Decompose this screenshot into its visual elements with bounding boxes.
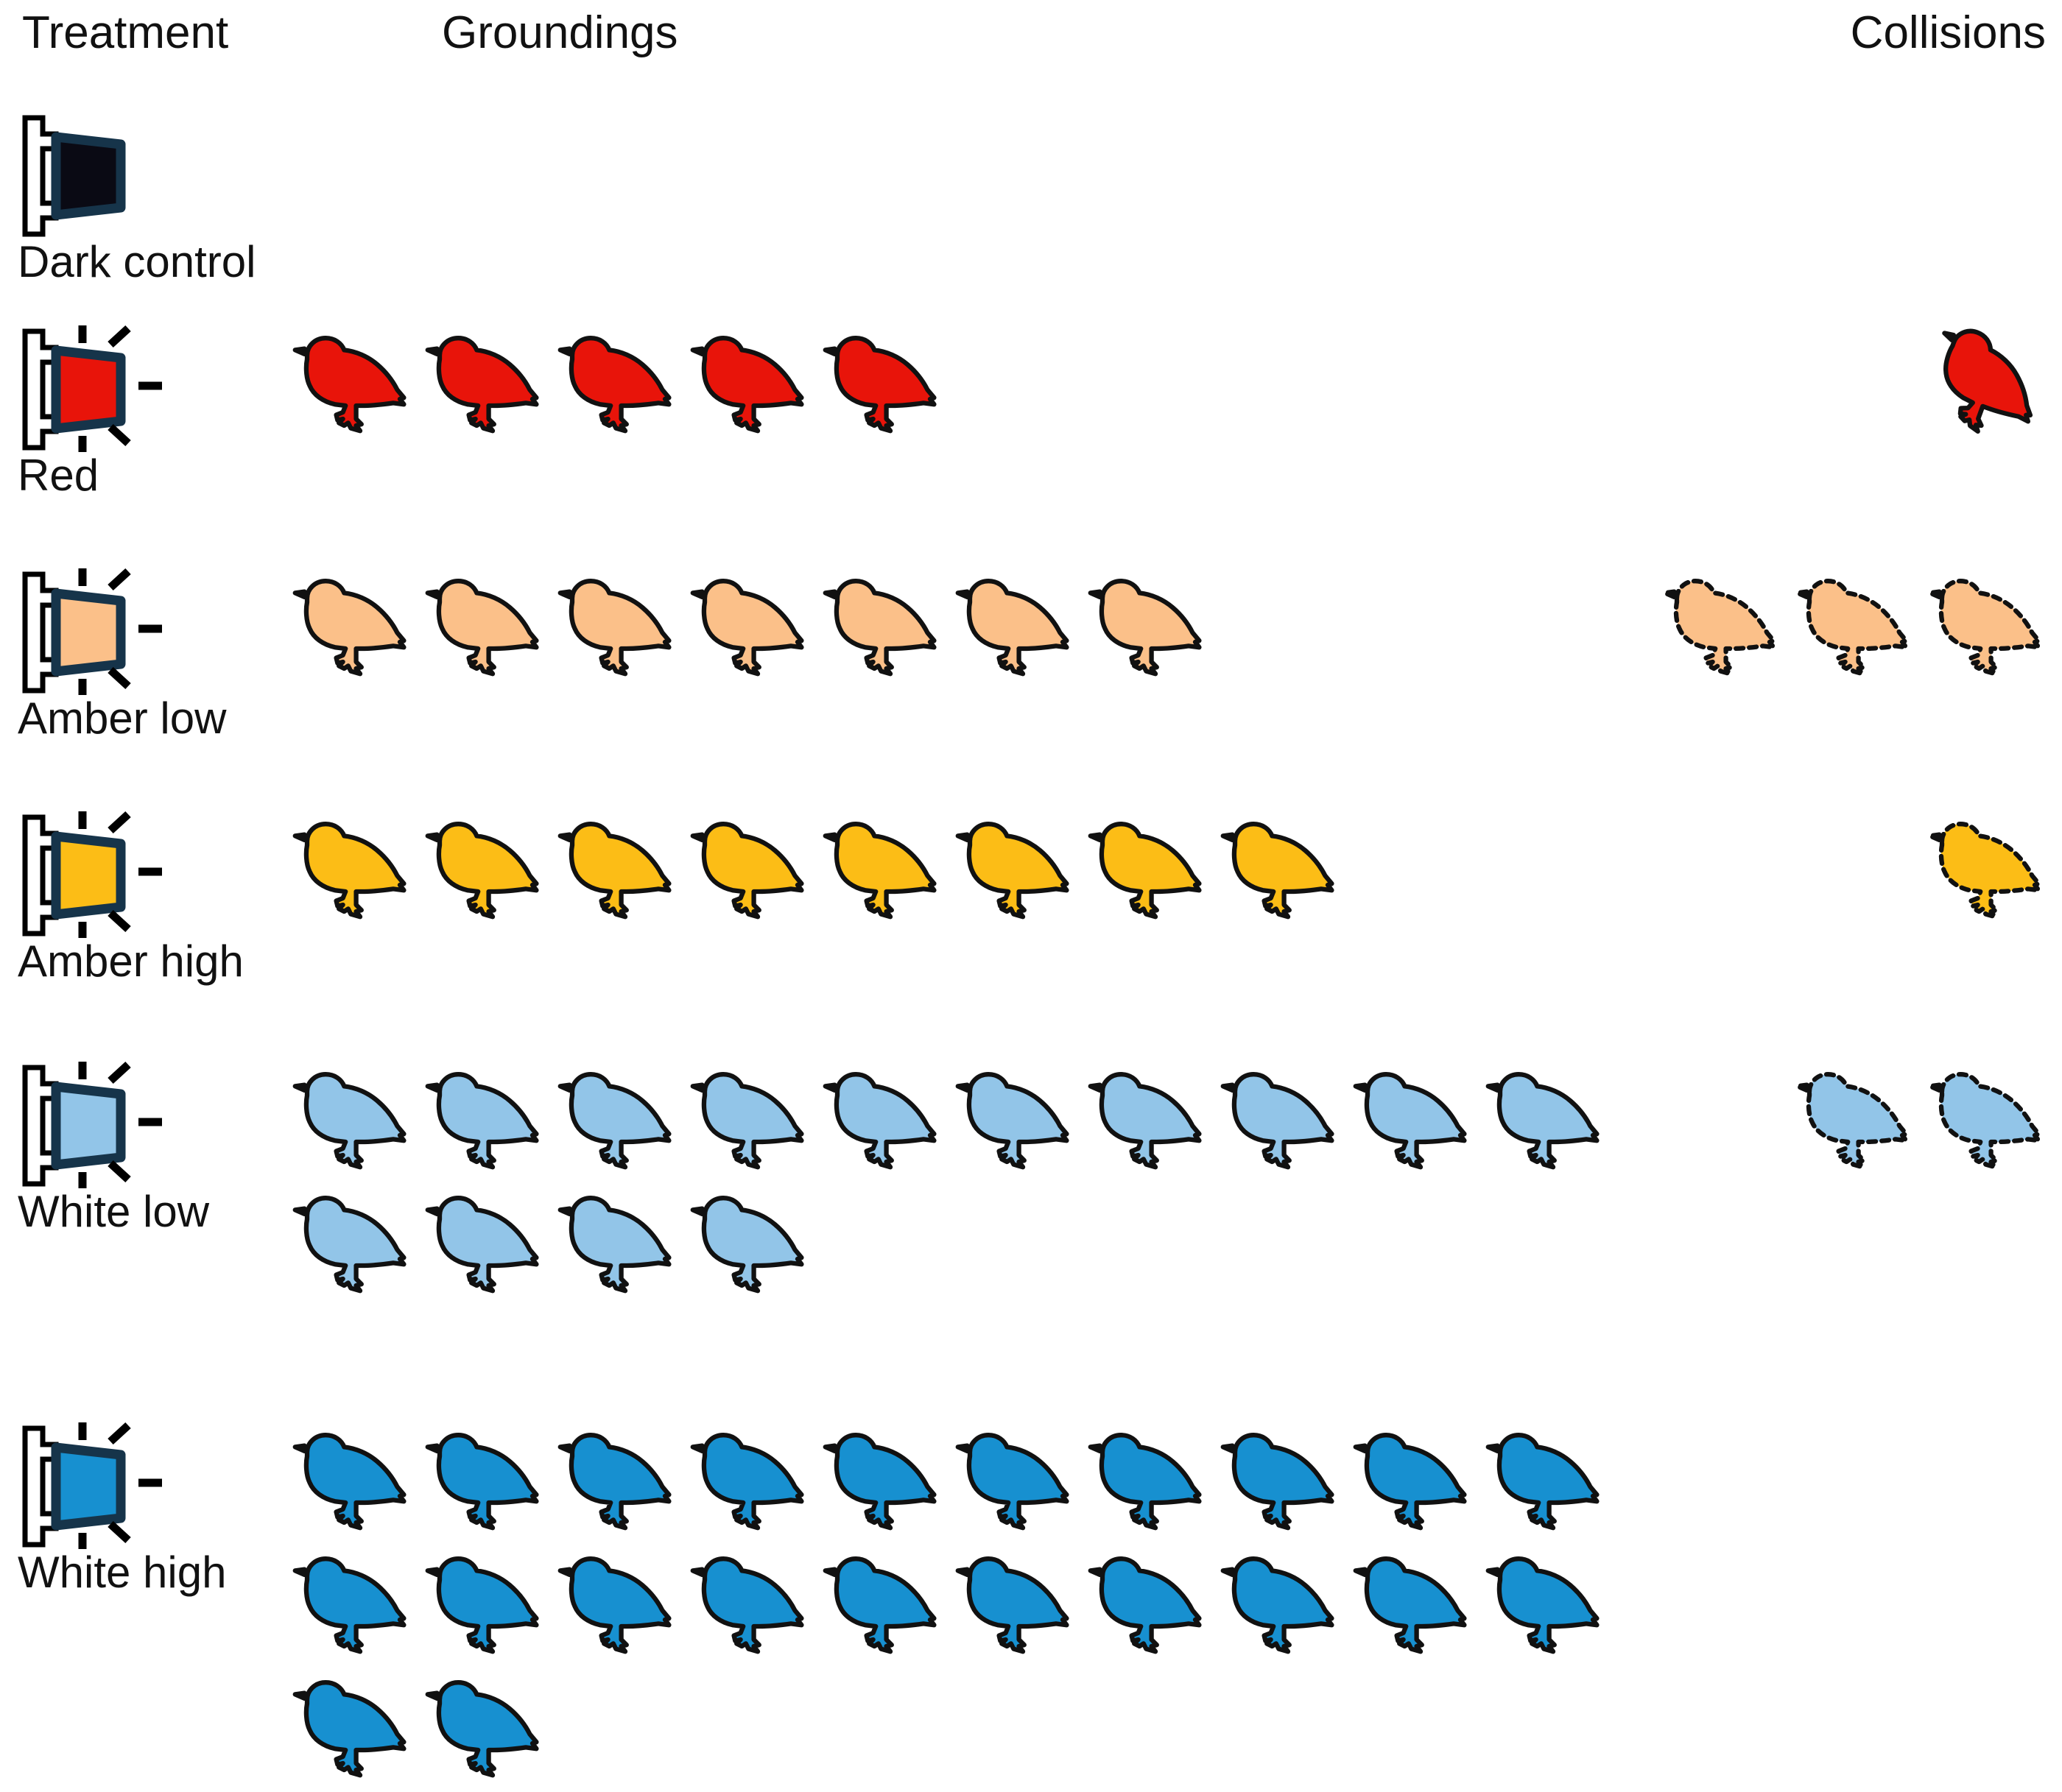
bird-icon	[552, 324, 685, 448]
treatment-cell-dark-control: Dark control	[18, 110, 275, 284]
bird-icon	[1083, 567, 1215, 691]
pictogram-chart: Treatment Groundings Collisions Dark con…	[0, 0, 2062, 1739]
bird-icon	[817, 810, 950, 934]
treatment-cell-amber-high: Amber high	[18, 810, 275, 984]
bird-icon	[1480, 1545, 1613, 1668]
bird-icon	[287, 1184, 420, 1308]
treatment-label: Amber high	[18, 939, 275, 984]
grounding-bird-line	[287, 1184, 1598, 1308]
grounding-bird-line	[287, 1668, 1598, 1792]
bird-collision-icon	[1922, 1060, 2055, 1184]
bird-collision-icon	[1790, 1060, 1922, 1184]
bird-icon	[685, 567, 817, 691]
bird-icon	[1480, 1421, 1613, 1545]
bird-icon	[287, 1060, 420, 1184]
bird-icon	[420, 1184, 552, 1308]
treatment-label: White low	[18, 1190, 275, 1234]
bird-icon	[1348, 1421, 1480, 1545]
bird-icon	[950, 567, 1083, 691]
treatment-label: Red	[18, 454, 275, 498]
bird-icon	[817, 1545, 950, 1668]
collisions-cell-amber-high	[1392, 810, 2055, 934]
groundings-cell-white-high	[287, 1421, 1598, 1792]
bird-icon	[950, 1421, 1083, 1545]
bird-icon	[685, 1060, 817, 1184]
collisions-cell-red	[1392, 324, 2055, 448]
bird-icon	[287, 1545, 420, 1668]
lamp-icon	[18, 110, 202, 236]
bird-icon	[1215, 1421, 1348, 1545]
bird-icon	[1083, 810, 1215, 934]
lamp-icon	[18, 567, 202, 692]
bird-icon	[552, 1421, 685, 1545]
treatment-cell-white-low: White low	[18, 1060, 275, 1234]
lamp-icon	[18, 810, 202, 935]
lamp-icon	[18, 1421, 202, 1546]
bird-collision-icon	[1790, 567, 1922, 691]
bird-icon	[287, 324, 420, 448]
collisions-cell-white-low	[1392, 1060, 2055, 1184]
treatment-label: White high	[18, 1551, 275, 1595]
bird-icon	[552, 1060, 685, 1184]
bird-icon	[1348, 1545, 1480, 1668]
lamp-icon	[18, 324, 202, 449]
bird-icon	[552, 810, 685, 934]
collision-bird-line	[1392, 324, 2055, 448]
bird-icon	[552, 567, 685, 691]
column-header-groundings: Groundings	[442, 10, 678, 56]
collision-bird-line	[1392, 810, 2055, 934]
grounding-bird-line	[287, 1545, 1598, 1668]
bird-collision-icon	[1657, 567, 1790, 691]
bird-icon	[287, 1421, 420, 1545]
bird-icon	[287, 810, 420, 934]
bird-icon	[420, 1668, 552, 1792]
bird-icon	[420, 1545, 552, 1668]
collision-bird-line	[1392, 567, 2055, 691]
lamp-icon	[18, 1060, 202, 1185]
collision-bird-line	[1392, 1060, 2055, 1184]
bird-icon	[950, 1060, 1083, 1184]
bird-collision-icon	[1922, 567, 2055, 691]
bird-icon	[685, 1421, 817, 1545]
bird-icon	[287, 567, 420, 691]
bird-icon	[1215, 1060, 1348, 1184]
column-header-collisions: Collisions	[1851, 10, 2046, 56]
bird-icon	[1083, 1545, 1215, 1668]
bird-icon	[420, 810, 552, 934]
bird-icon	[685, 1184, 817, 1308]
bird-icon	[552, 1184, 685, 1308]
bird-icon	[1215, 1545, 1348, 1668]
bird-icon	[1215, 810, 1348, 934]
bird-icon	[1083, 1060, 1215, 1184]
bird-icon	[685, 324, 817, 448]
treatment-cell-amber-low: Amber low	[18, 567, 275, 741]
treatment-cell-red: Red	[18, 324, 275, 498]
bird-collision-icon	[1922, 810, 2055, 934]
grounding-bird-line	[287, 1421, 1598, 1545]
bird-icon	[552, 1545, 685, 1668]
bird-icon	[950, 1545, 1083, 1668]
bird-icon	[950, 810, 1083, 934]
bird-collision-icon	[1922, 324, 2055, 448]
bird-icon	[420, 1060, 552, 1184]
collisions-cell-amber-low	[1392, 567, 2055, 691]
bird-icon	[685, 810, 817, 934]
bird-icon	[817, 567, 950, 691]
treatment-cell-white-high: White high	[18, 1421, 275, 1595]
bird-icon	[685, 1545, 817, 1668]
treatment-label: Amber low	[18, 696, 275, 741]
bird-icon	[817, 1060, 950, 1184]
bird-icon	[420, 324, 552, 448]
bird-icon	[420, 567, 552, 691]
bird-icon	[1083, 1421, 1215, 1545]
bird-icon	[817, 324, 950, 448]
bird-icon	[817, 1421, 950, 1545]
treatment-label: Dark control	[18, 240, 275, 284]
column-header-treatment: Treatment	[22, 10, 228, 56]
bird-icon	[420, 1421, 552, 1545]
bird-icon	[287, 1668, 420, 1792]
